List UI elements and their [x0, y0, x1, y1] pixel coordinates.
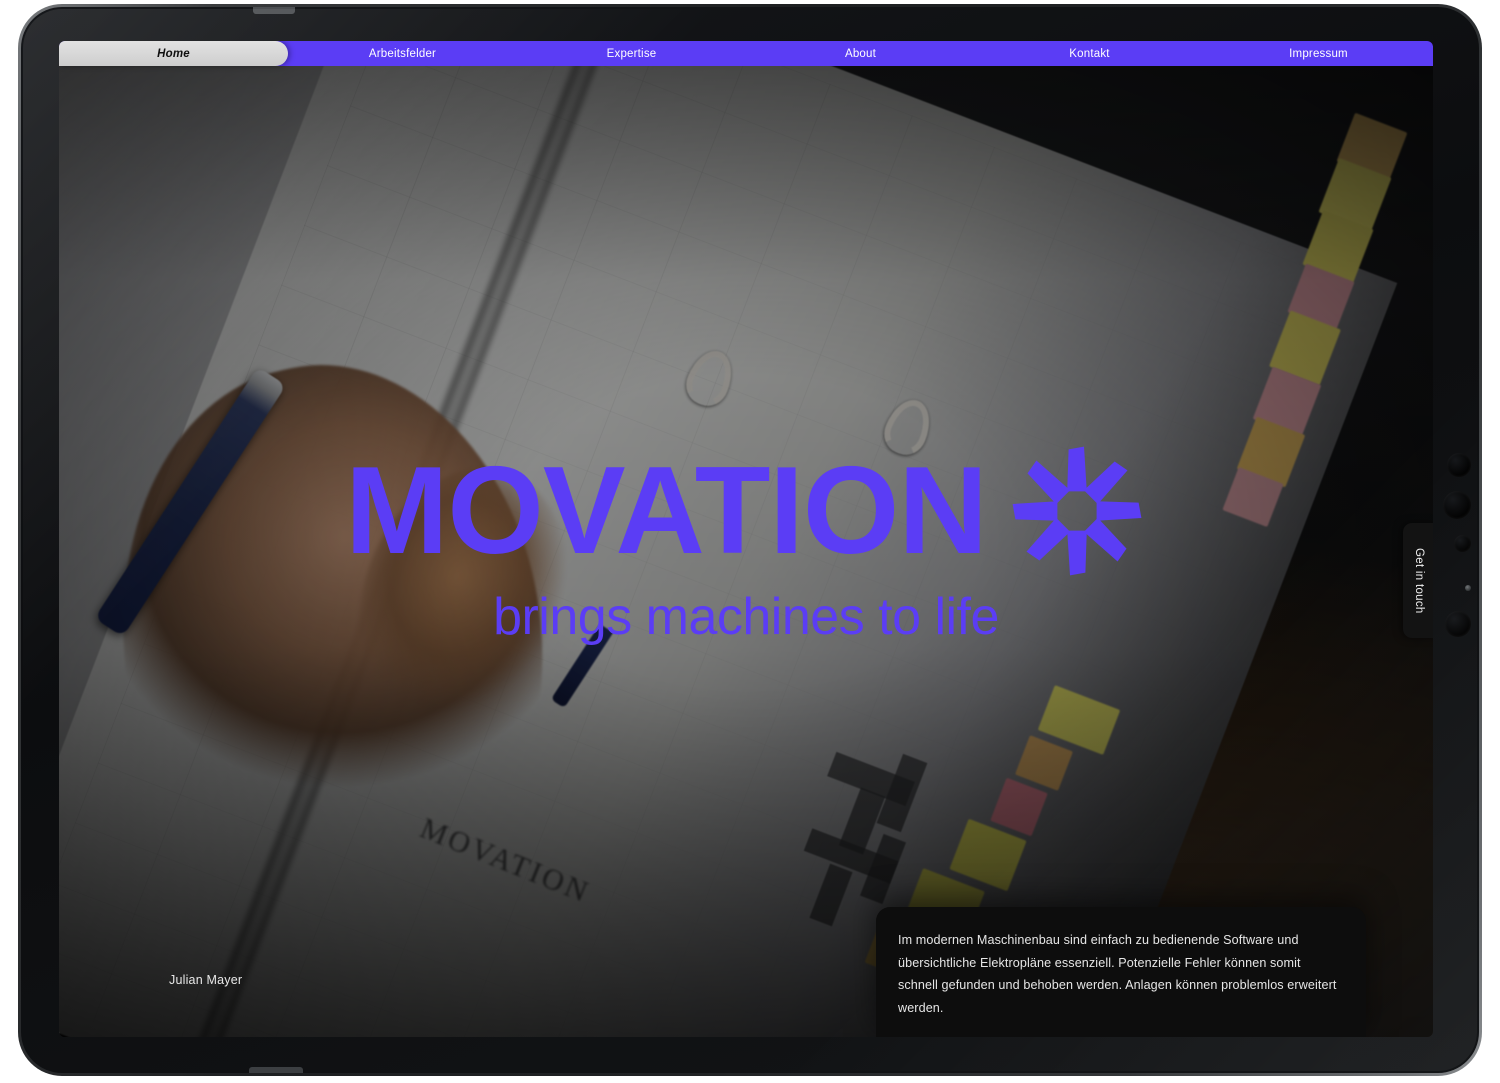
indicator-led-icon — [1465, 585, 1471, 591]
camera-lens-icon — [1443, 491, 1471, 519]
intro-text-panel: Im modernen Maschinenbau sind einfach zu… — [876, 907, 1366, 1037]
nav-item-arbeitsfelder[interactable]: Arbeitsfelder — [288, 41, 517, 66]
sensor-dot-icon — [1454, 535, 1471, 552]
nav-item-home[interactable]: Home — [59, 41, 288, 66]
nav-item-impressum[interactable]: Impressum — [1204, 41, 1433, 66]
microphone-hole-icon — [1445, 611, 1471, 637]
tablet-device-frame: MOVATION Home Arbeitsfelder Expertise Ab… — [18, 4, 1482, 1076]
nav-item-about[interactable]: About — [746, 41, 975, 66]
get-in-touch-button[interactable]: Get in touch — [1403, 523, 1433, 638]
top-antenna-band — [253, 7, 295, 14]
nav-item-expertise[interactable]: Expertise — [517, 41, 746, 66]
hero-section: MOVATION — [59, 66, 1433, 1037]
tablet-screen: MOVATION Home Arbeitsfelder Expertise Ab… — [59, 41, 1433, 1037]
nav-item-kontakt[interactable]: Kontakt — [975, 41, 1204, 66]
speaker-hole-icon — [1447, 453, 1471, 477]
photo-credit: Julian Mayer — [169, 973, 242, 987]
get-in-touch-label: Get in touch — [1413, 548, 1425, 614]
intro-paragraph: Im modernen Maschinenbau sind einfach zu… — [898, 929, 1344, 1019]
bottom-antenna-band — [249, 1067, 303, 1073]
tablet-bezel: MOVATION Home Arbeitsfelder Expertise Ab… — [21, 7, 1479, 1073]
main-navigation[interactable]: Home Arbeitsfelder Expertise About Konta… — [59, 41, 1433, 66]
